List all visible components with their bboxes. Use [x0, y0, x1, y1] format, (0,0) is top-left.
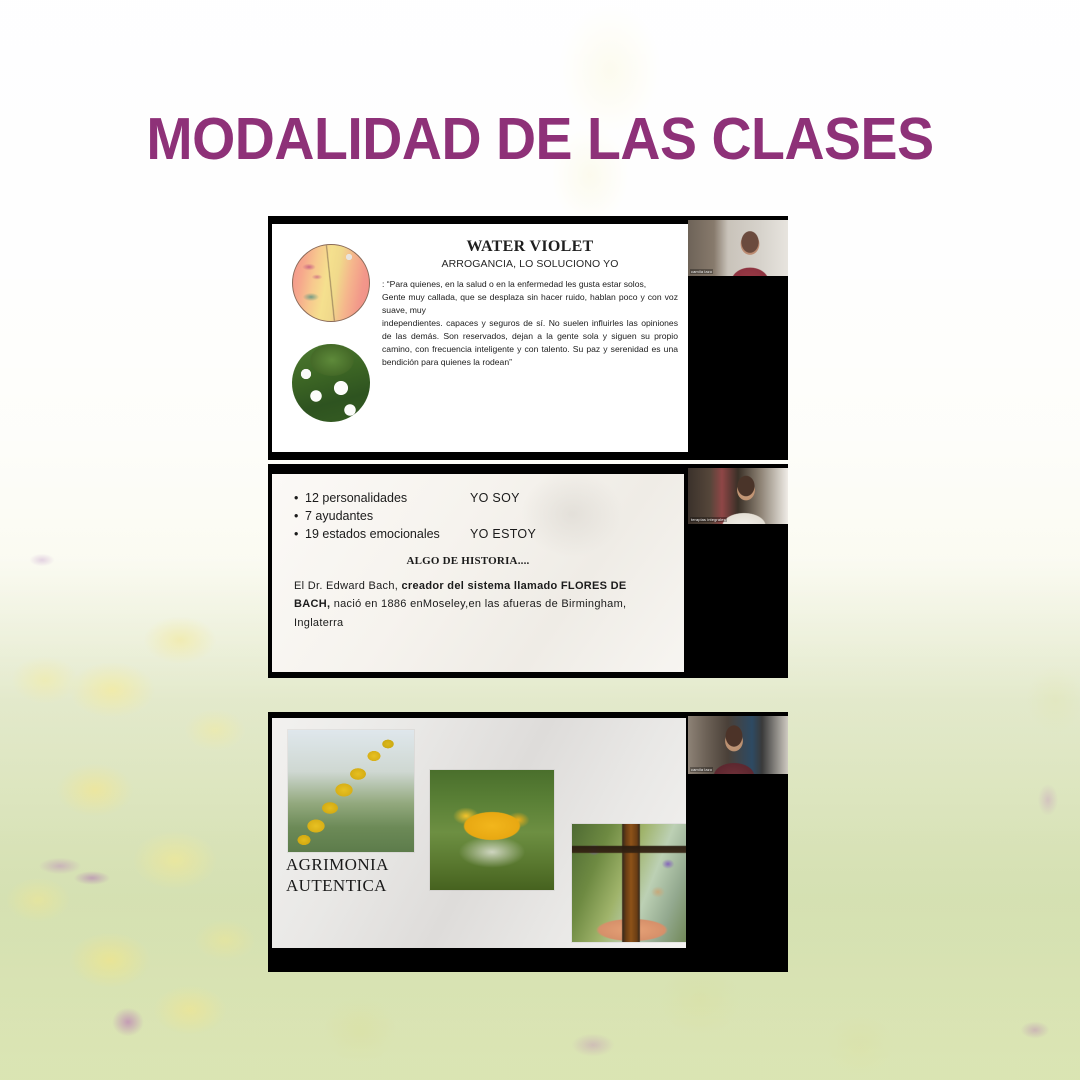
slide2-paragraph-part-3: nació en 1886 enMoseley,en las afueras d… [294, 598, 626, 628]
watercolor-figure-illustration [292, 244, 370, 322]
slide2-bullet-list: • 12 personalidades YO SOY • 7 ayudantes… [294, 490, 684, 543]
water-violet-flower-photo [292, 344, 370, 422]
slide2-paragraph: El Dr. Edward Bach, creador del sistema … [294, 577, 684, 631]
slide3-label: AGRIMONIA AUTENTICA [286, 854, 389, 897]
slide2-section-heading: ALGO DE HISTORIA.... [294, 555, 642, 567]
list-item: • 12 personalidades YO SOY [294, 490, 684, 508]
video-tile-participant-3[interactable]: camila lazo [688, 716, 788, 774]
dropper-bottle-in-hand-photo [572, 824, 686, 942]
meeting-screenshot-1: WATER VIOLET ARROGANCIA, LO SOLUCIONO YO… [268, 216, 788, 460]
list-item: • 19 estados emocionales YO ESTOY [294, 526, 684, 544]
slide2-bullet-key-1: 12 personalidades [305, 490, 470, 508]
video-participant-name-3: camila lazo [690, 767, 713, 772]
slide1-body-text: : “Para quienes, en la salud o en la enf… [382, 278, 678, 369]
presentation-slide-historia: • 12 personalidades YO SOY • 7 ayudantes… [272, 474, 684, 672]
video-tile-participant-1[interactable]: camila lazo [688, 220, 788, 276]
presentation-slide-agrimonia: AGRIMONIA AUTENTICA [272, 718, 686, 948]
slide1-paragraph-2: Gente muy callada, que se desplaza sin h… [382, 291, 678, 317]
meeting-screenshot-3: AGRIMONIA AUTENTICA camila lazo [268, 712, 788, 972]
slide1-subheading: ARROGANCIA, LO SOLUCIONO YO [382, 258, 678, 270]
slide1-paragraph-3: independientes. capaces y seguros de sí.… [382, 317, 678, 369]
video-participant-name-1: camila lazo [690, 269, 713, 274]
slide2-bullet-value-3: YO ESTOY [470, 526, 536, 544]
bullet-dot-icon: • [294, 508, 305, 526]
flowers-in-glass-bowl-photo [430, 770, 554, 890]
bullet-dot-icon: • [294, 490, 305, 508]
agrimonia-flower-spike-photo [288, 730, 414, 852]
screenshot-stack: WATER VIOLET ARROGANCIA, LO SOLUCIONO YO… [268, 216, 788, 972]
slide1-heading: WATER VIOLET [382, 238, 678, 256]
page-title: MODALIDAD DE LAS CLASES [32, 110, 1047, 169]
slide2-bullet-value-1: YO SOY [470, 490, 520, 508]
bullet-dot-icon: • [294, 526, 305, 544]
slide2-bullet-key-2: 7 ayudantes [305, 508, 470, 526]
slide3-label-line-1: AGRIMONIA [286, 854, 389, 875]
slide2-bullet-key-3: 19 estados emocionales [305, 526, 470, 544]
video-participant-name-2: terapias integrales [690, 517, 727, 522]
slide3-label-line-2: AUTENTICA [286, 875, 389, 896]
slide2-paragraph-part-1: El Dr. Edward Bach, [294, 580, 402, 592]
meeting-screenshot-2: • 12 personalidades YO SOY • 7 ayudantes… [268, 464, 788, 678]
slide1-image-column [292, 244, 370, 422]
list-item: • 7 ayudantes [294, 508, 684, 526]
slide1-paragraph-1: : “Para quienes, en la salud o en la enf… [382, 278, 678, 291]
presentation-slide-water-violet: WATER VIOLET ARROGANCIA, LO SOLUCIONO YO… [272, 224, 688, 452]
video-tile-participant-2[interactable]: terapias integrales [688, 468, 788, 524]
